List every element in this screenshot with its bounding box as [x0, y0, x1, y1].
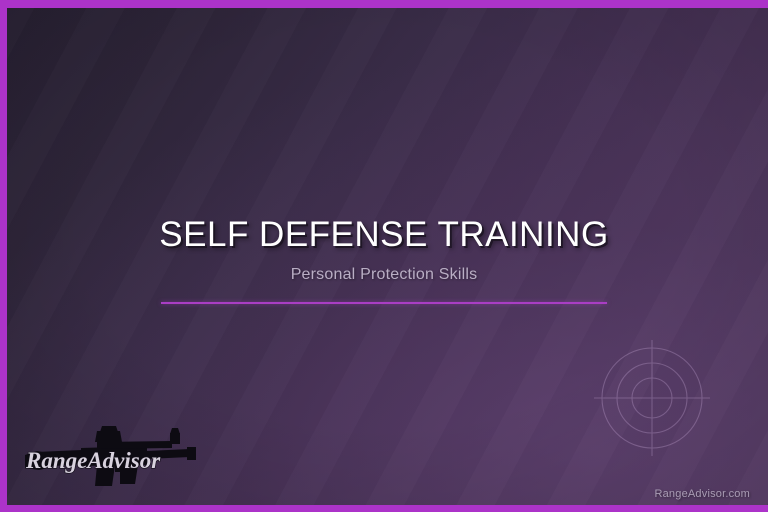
page-title: SELF DEFENSE TRAINING: [0, 214, 768, 256]
brand-logo-text: RangeAdvisor: [25, 448, 161, 473]
site-watermark: RangeAdvisor.com: [654, 488, 750, 500]
page-subtitle: Personal Protection Skills: [0, 265, 768, 285]
title-divider: [161, 302, 607, 304]
title-slide: SELF DEFENSE TRAINING Personal Protectio…: [0, 0, 768, 512]
frame-border-top: [0, 0, 768, 8]
brand-logo[interactable]: RangeAdvisor: [22, 422, 197, 490]
frame-border-left: [0, 0, 7, 512]
frame-border-bottom: [0, 505, 768, 512]
title-block: SELF DEFENSE TRAINING Personal Protectio…: [0, 214, 768, 304]
